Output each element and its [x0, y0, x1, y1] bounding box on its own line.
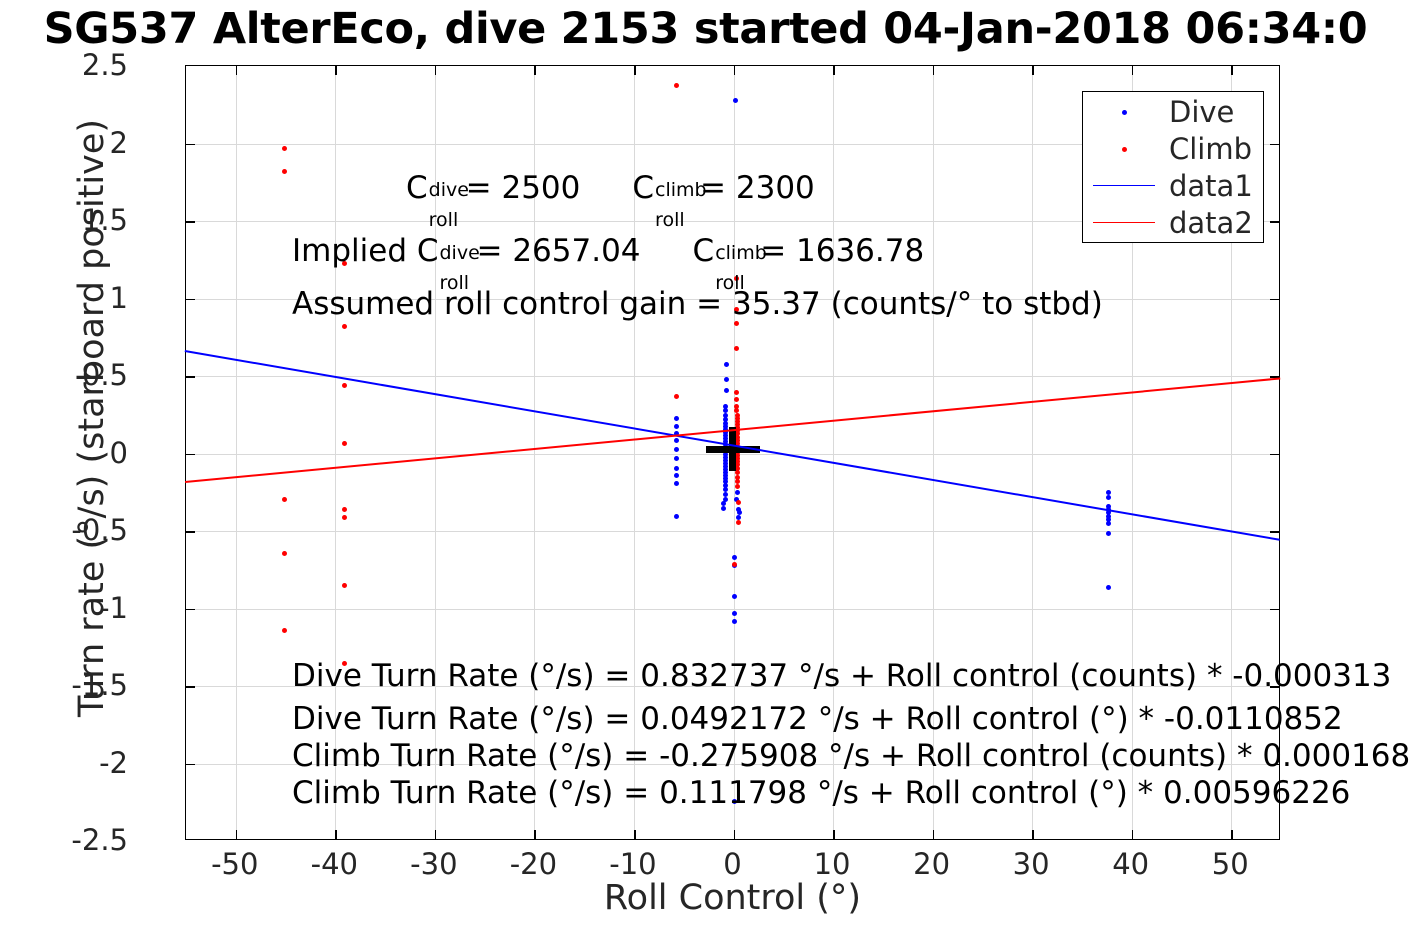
- y-tick-mark: [1270, 299, 1279, 301]
- implied-dive-superscript: dive: [440, 244, 480, 263]
- y-tick-mark: [186, 376, 195, 378]
- x-axis-label: Roll Control (°): [185, 876, 1280, 920]
- data-point-climb: [734, 390, 739, 395]
- legend-label: data1: [1169, 167, 1253, 205]
- legend-marker-icon: [1083, 204, 1167, 242]
- x-tick-mark: [833, 830, 835, 839]
- x-tick-mark: [435, 830, 437, 839]
- y-tick-mark: [1270, 609, 1279, 611]
- page-title: SG537 AlterEco, dive 2153 started 04-Jan…: [0, 0, 1414, 60]
- legend-dot-icon: [1122, 110, 1127, 115]
- implied-prefix: Implied C: [292, 233, 439, 269]
- data-point-dive: [1106, 531, 1111, 536]
- legend-marker-icon: [1083, 130, 1167, 168]
- c-dive-symbol: C: [406, 170, 428, 206]
- y-tick-mark: [1270, 144, 1279, 146]
- equation-climb-degrees: Climb Turn Rate (°/s) = 0.111798 °/s + R…: [292, 774, 1350, 812]
- x-tick-mark: [1032, 830, 1034, 839]
- y-tick-mark: [186, 764, 195, 766]
- data-point-dive: [732, 619, 737, 624]
- legend-label: Dive: [1169, 93, 1234, 131]
- data-point-climb: [282, 497, 287, 502]
- equation-dive-counts: Dive Turn Rate (°/s) = 0.832737 °/s + Ro…: [292, 657, 1391, 695]
- implied-climb-symbol: C: [693, 233, 715, 269]
- y-tick-mark: [186, 609, 195, 611]
- y-tick-mark: [186, 454, 195, 456]
- y-tick-mark: [186, 686, 195, 688]
- x-tick-mark: [1231, 830, 1233, 839]
- y-tick-label: 1: [8, 281, 128, 315]
- data-point-dive: [721, 506, 726, 511]
- data-point-dive: [674, 438, 679, 443]
- y-tick-label: 0: [8, 436, 128, 470]
- x-tick-mark: [534, 66, 536, 75]
- data-point-climb: [732, 562, 737, 567]
- c-climb-value: = 2300: [700, 170, 815, 206]
- x-tick-mark: [933, 66, 935, 75]
- equation-dive-degrees: Dive Turn Rate (°/s) = 0.0492172 °/s + R…: [292, 700, 1343, 738]
- data-point-climb: [736, 500, 741, 505]
- y-tick-mark: [186, 144, 195, 146]
- x-tick-mark: [1132, 66, 1134, 75]
- annotation-roll-control-gain: Assumed roll control gain = 35.37 (count…: [292, 285, 1103, 323]
- legend-marker-icon: [1083, 167, 1167, 205]
- y-tick-label: 2.5: [8, 48, 128, 82]
- x-tick-mark: [335, 830, 337, 839]
- y-tick-label: -1.5: [8, 668, 128, 702]
- y-tick-mark: [186, 299, 195, 301]
- y-tick-label: 0.5: [8, 358, 128, 392]
- data-point-dive: [724, 362, 729, 367]
- data-point-climb: [736, 520, 741, 525]
- c-dive-superscript: dive: [429, 181, 469, 200]
- data-point-climb: [342, 515, 347, 520]
- x-tick-mark: [933, 830, 935, 839]
- y-tick-mark: [186, 221, 195, 223]
- equation-climb-counts: Climb Turn Rate (°/s) = -0.275908 °/s + …: [292, 737, 1410, 775]
- data-point-dive: [674, 514, 679, 519]
- data-point-dive: [724, 388, 729, 393]
- annotation-implied-c-roll: Implied Cdiveroll= 2657.04Cclimbroll= 16…: [292, 232, 924, 270]
- data-point-climb: [674, 83, 679, 88]
- x-tick-mark: [734, 830, 736, 839]
- legend-label: data2: [1169, 204, 1253, 242]
- x-tick-mark: [335, 66, 337, 75]
- y-tick-label: -0.5: [8, 513, 128, 547]
- legend[interactable]: DiveClimbdata1data2: [1082, 91, 1264, 243]
- y-tick-mark: [1270, 531, 1279, 533]
- x-tick-mark: [1132, 830, 1134, 839]
- chart-figure: SG537 AlterEco, dive 2153 started 04-Jan…: [0, 0, 1417, 945]
- data-point-climb: [342, 441, 347, 446]
- c-dive-subscript: roll: [429, 211, 459, 230]
- data-point-dive: [674, 466, 679, 471]
- y-tick-label: -2.5: [8, 823, 128, 857]
- x-tick-mark: [1231, 66, 1233, 75]
- origin-marker-vertical: [729, 427, 736, 471]
- x-tick-mark: [1032, 66, 1034, 75]
- legend-item-dive[interactable]: Dive: [1083, 93, 1265, 131]
- grid-line-horizontal: [186, 609, 1279, 610]
- c-climb-subscript: roll: [655, 211, 685, 230]
- x-tick-mark: [634, 830, 636, 839]
- implied-climb-value: = 1636.78: [760, 233, 924, 269]
- x-tick-label: 50: [1170, 846, 1290, 882]
- legend-label: Climb: [1169, 130, 1252, 168]
- x-tick-mark: [435, 66, 437, 75]
- annotation-c-roll-setpoints: Cdiveroll= 2500Cclimbroll= 2300: [406, 169, 815, 207]
- grid-line-horizontal: [186, 376, 1279, 377]
- grid-line-horizontal: [186, 531, 1279, 532]
- legend-item-climb[interactable]: Climb: [1083, 130, 1265, 168]
- legend-dot-icon: [1122, 147, 1127, 152]
- grid-line-vertical: [236, 66, 237, 839]
- x-tick-mark: [534, 830, 536, 839]
- y-tick-label: 2: [8, 126, 128, 160]
- legend-item-data1[interactable]: data1: [1083, 167, 1265, 205]
- y-tick-mark: [1270, 221, 1279, 223]
- y-tick-mark: [1270, 454, 1279, 456]
- legend-item-data2[interactable]: data2: [1083, 204, 1265, 242]
- c-climb-symbol: C: [632, 170, 654, 206]
- legend-marker-icon: [1083, 93, 1167, 131]
- y-tick-mark: [186, 531, 195, 533]
- data-point-climb: [282, 551, 287, 556]
- implied-dive-value: = 2657.04: [477, 233, 641, 269]
- c-dive-value: = 2500: [466, 170, 581, 206]
- y-tick-label: -1: [8, 591, 128, 625]
- implied-climb-superscript: climb: [715, 244, 767, 263]
- x-tick-mark: [236, 830, 238, 839]
- x-tick-mark: [634, 66, 636, 75]
- x-tick-mark: [833, 66, 835, 75]
- c-climb-superscript: climb: [655, 181, 707, 200]
- y-tick-label: -2: [8, 746, 128, 780]
- legend-line-icon: [1093, 222, 1155, 223]
- x-tick-mark: [734, 66, 736, 75]
- data-point-dive: [674, 424, 679, 429]
- x-tick-mark: [236, 66, 238, 75]
- y-tick-label: 1.5: [8, 203, 128, 237]
- legend-line-icon: [1093, 185, 1155, 186]
